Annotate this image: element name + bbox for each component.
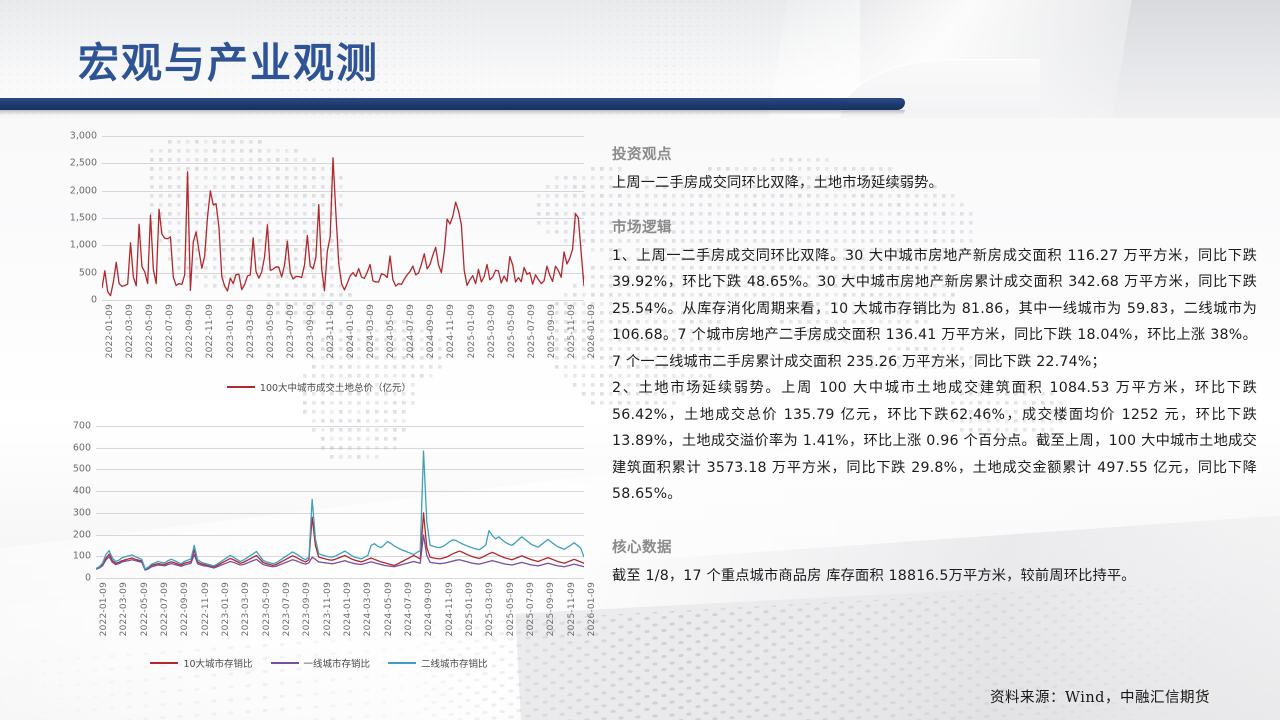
spacer-2 [612, 508, 1257, 536]
x-axis-tick-label: 2023-01-09 [221, 582, 231, 636]
y-axis-tick-label: 300 [73, 507, 96, 518]
chart-land-total-price: 05001,0001,5002,0002,5003,0002022-01-092… [56, 128, 596, 410]
x-axis-tick-label: 2023-07-09 [282, 582, 292, 636]
charts-column: 05001,0001,5002,0002,5003,0002022-01-092… [56, 128, 596, 708]
y-axis-tick-label: 100 [73, 551, 96, 562]
series-canvas [96, 426, 584, 578]
section-body-investment-view: 上周一二手房成交同环比双降，土地市场延续弱势。 [612, 170, 1257, 197]
y-axis-tick-label: 0 [91, 295, 102, 306]
legend-color-swatch [388, 662, 416, 665]
header-accent-bar-shadow [0, 110, 905, 115]
x-axis-tick-label: 2022-01-09 [105, 304, 115, 358]
y-axis-tick-label: 500 [79, 267, 102, 278]
series-line [102, 158, 584, 296]
x-axis-tick-label: 2025-11-09 [567, 582, 577, 636]
text-panel: 投资观点 上周一二手房成交同环比双降，土地市场延续弱势。 市场逻辑 1、上周一二… [612, 143, 1257, 589]
x-axis-tick-label: 2022-09-09 [180, 582, 190, 636]
chart-legend: 10大城市存销比一线城市存销比二线城市存销比 [56, 656, 596, 670]
x-axis-tick-label: 2025-09-09 [547, 304, 557, 358]
x-axis-tick-label: 2025-05-09 [507, 304, 517, 358]
x-axis-tick-label: 2022-05-09 [145, 304, 155, 358]
section-body-market-logic-2: 2、土地市场延续弱势。上周 100 大中城市土地成交建筑面积 1084.53 万… [612, 375, 1257, 508]
series-line [96, 451, 584, 569]
x-axis-tick-label: 2023-07-09 [286, 304, 296, 358]
plot-area: 05001,0001,5002,0002,5003,000 [102, 136, 584, 300]
x-axis-tick-label: 2025-11-09 [567, 304, 577, 358]
y-axis-tick-label: 700 [73, 421, 96, 432]
legend-label: 二线城市存销比 [421, 656, 488, 670]
x-axis-tick-label: 2024-03-09 [363, 582, 373, 636]
x-axis-tick-label: 2025-03-09 [485, 582, 495, 636]
y-axis-tick-label: 600 [73, 442, 96, 453]
x-axis-tick-label: 2025-07-09 [526, 582, 536, 636]
x-axis-tick-label: 2026-01-09 [587, 304, 597, 358]
gridline [96, 578, 584, 579]
x-axis-tick-label: 2023-05-09 [266, 304, 276, 358]
x-axis-tick-label: 2024-05-09 [384, 582, 394, 636]
legend-color-swatch [227, 386, 255, 389]
section-heading-core-data: 核心数据 [612, 536, 1257, 557]
x-axis-tick-label: 2024-05-09 [386, 304, 396, 358]
x-axis-tick-label: 2023-09-09 [302, 582, 312, 636]
x-axis-labels: 2022-01-092022-03-092022-05-092022-07-09… [102, 304, 584, 378]
slide-root: 宏观与产业观测 05001,0001,5002,0002,5003,000202… [0, 0, 1280, 720]
x-axis-tick-label: 2025-09-09 [546, 582, 556, 636]
spacer-1 [612, 197, 1257, 216]
x-axis-tick-label: 2023-03-09 [241, 582, 251, 636]
chart-legend: 100大中城市成交土地总价（亿元） [56, 380, 596, 394]
x-axis-tick-label: 2026-01-09 [587, 582, 597, 636]
legend-color-swatch [271, 662, 299, 665]
x-axis-tick-label: 2022-07-09 [165, 304, 175, 358]
x-axis-tick-label: 2024-09-09 [424, 582, 434, 636]
y-axis-tick-label: 3,000 [70, 131, 102, 142]
x-axis-tick-label: 2025-01-09 [467, 304, 477, 358]
x-axis-tick-label: 2024-07-09 [406, 304, 416, 358]
x-axis-tick-label: 2022-03-09 [119, 582, 129, 636]
y-axis-tick-label: 2,000 [70, 185, 102, 196]
legend-label: 10大城市存销比 [183, 656, 252, 670]
series-line [96, 535, 584, 570]
x-axis-tick-label: 2024-03-09 [366, 304, 376, 358]
x-axis-tick-label: 2022-01-09 [99, 582, 109, 636]
x-axis-tick-label: 2023-05-09 [262, 582, 272, 636]
x-axis-tick-label: 2025-01-09 [465, 582, 475, 636]
series-canvas [102, 136, 584, 300]
y-axis-tick-label: 200 [73, 529, 96, 540]
y-axis-tick-label: 1,000 [70, 240, 102, 251]
plot-area: 0100200300400500600700 [96, 426, 584, 578]
section-heading-investment-view: 投资观点 [612, 143, 1257, 164]
x-axis-labels: 2022-01-092022-03-092022-05-092022-07-09… [96, 582, 584, 656]
legend-color-swatch [150, 662, 178, 665]
x-axis-tick-label: 2022-03-09 [125, 304, 135, 358]
x-axis-tick-label: 2023-11-09 [326, 304, 336, 358]
legend-item[interactable]: 100大中城市成交土地总价（亿元） [227, 380, 411, 394]
x-axis-tick-label: 2024-11-09 [446, 304, 456, 358]
y-axis-tick-label: 500 [73, 464, 96, 475]
legend-item[interactable]: 10大城市存销比 [150, 656, 252, 670]
y-axis-tick-label: 1,500 [70, 213, 102, 224]
source-note: 资料来源：Wind，中融汇信期货 [940, 686, 1260, 707]
legend-item[interactable]: 一线城市存销比 [271, 656, 371, 670]
y-axis-tick-label: 0 [85, 573, 96, 584]
x-axis-tick-label: 2024-07-09 [404, 582, 414, 636]
x-axis-tick-label: 2024-01-09 [346, 304, 356, 358]
x-axis-tick-label: 2022-11-09 [201, 582, 211, 636]
legend-label: 一线城市存销比 [304, 656, 371, 670]
x-axis-tick-label: 2024-01-09 [343, 582, 353, 636]
x-axis-tick-label: 2025-03-09 [487, 304, 497, 358]
x-axis-tick-label: 2024-11-09 [445, 582, 455, 636]
page-title: 宏观与产业观测 [78, 36, 379, 90]
chart-inventory-sales-ratio: 01002003004005006007002022-01-092022-03-… [56, 418, 596, 686]
x-axis-tick-label: 2023-01-09 [226, 304, 236, 358]
x-axis-tick-label: 2022-09-09 [185, 304, 195, 358]
gridline [102, 300, 584, 301]
y-axis-tick-label: 2,500 [70, 158, 102, 169]
section-heading-market-logic: 市场逻辑 [612, 216, 1257, 237]
x-axis-tick-label: 2023-11-09 [323, 582, 333, 636]
x-axis-tick-label: 2023-03-09 [246, 304, 256, 358]
legend-item[interactable]: 二线城市存销比 [388, 656, 488, 670]
x-axis-tick-label: 2025-05-09 [506, 582, 516, 636]
legend-label: 100大中城市成交土地总价（亿元） [260, 380, 411, 394]
section-body-market-logic-1: 1、上周一二手房成交同环比双降。30 大中城市房地产新房成交面积 116.27 … [612, 243, 1257, 376]
x-axis-tick-label: 2025-07-09 [527, 304, 537, 358]
x-axis-tick-label: 2022-05-09 [140, 582, 150, 636]
y-axis-tick-label: 400 [73, 486, 96, 497]
header-accent-bar [0, 98, 905, 110]
x-axis-tick-label: 2023-09-09 [306, 304, 316, 358]
slide-header: 宏观与产业观测 [0, 0, 1280, 118]
x-axis-tick-label: 2022-11-09 [205, 304, 215, 358]
x-axis-tick-label: 2022-07-09 [160, 582, 170, 636]
section-body-core-data: 截至 1/8，17 个重点城市商品房 库存面积 18816.5万平方米，较前周环… [612, 563, 1257, 590]
x-axis-tick-label: 2024-09-09 [426, 304, 436, 358]
